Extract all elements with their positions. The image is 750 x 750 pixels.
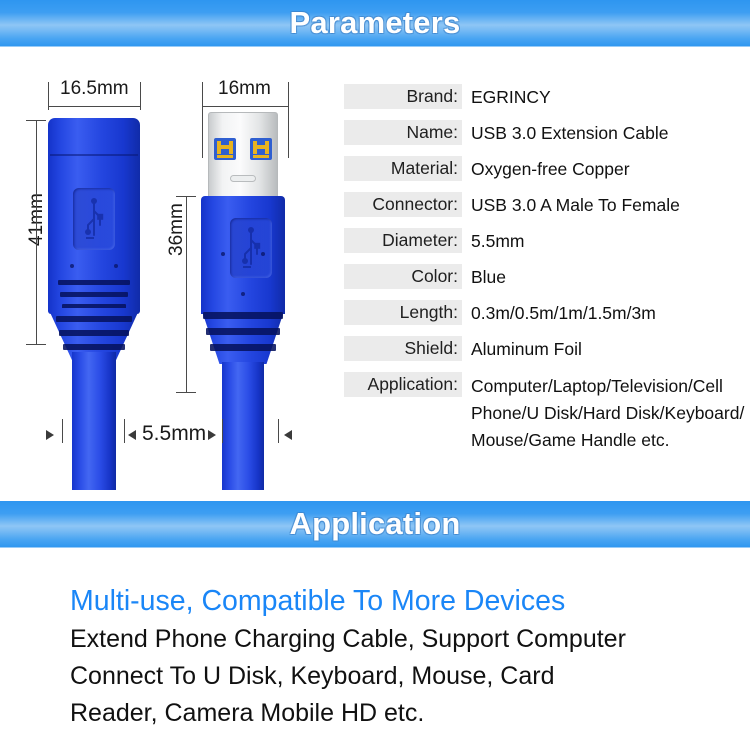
female-groove-2 xyxy=(60,292,128,297)
spec-row-color: Color: Blue xyxy=(344,264,746,289)
female-connector-seam xyxy=(50,154,138,156)
male-relief-ring-3 xyxy=(210,344,276,351)
male-cable-jacket xyxy=(222,362,264,490)
contact-block-left xyxy=(214,138,236,160)
specification-table: Brand: EGRINCY Name: USB 3.0 Extension C… xyxy=(344,84,746,465)
female-usb-connector xyxy=(48,118,140,358)
application-line-2: Connect To U Disk, Keyboard, Mouse, Card xyxy=(70,658,730,695)
spec-label-diameter: Diameter: xyxy=(344,228,462,253)
male-screw-hole-left xyxy=(221,252,225,256)
spec-row-material: Material: Oxygen-free Copper xyxy=(344,156,746,181)
cable-diagram: 16.5mm 41mm 16mm 36mm xyxy=(0,56,340,490)
male-relief-ring-1 xyxy=(203,312,283,319)
female-groove-1 xyxy=(58,280,130,285)
spec-label-connector: Connector: xyxy=(344,192,462,217)
spec-label-color: Color: xyxy=(344,264,462,289)
spec-row-application: Application: Computer/Laptop/Television/… xyxy=(344,372,746,454)
dimension-label-female-width: 16.5mm xyxy=(60,78,129,100)
female-relief-ring-3 xyxy=(63,344,125,350)
application-description: Multi-use, Compatible To More Devices Ex… xyxy=(70,581,730,732)
diameter-arrow-2 xyxy=(128,430,136,440)
parameters-banner-title: Parameters xyxy=(0,0,750,48)
dimension-tick-bottom xyxy=(26,344,46,345)
spec-row-shield: Shield: Aluminum Foil xyxy=(344,336,746,361)
diameter-arrow-3 xyxy=(208,430,216,440)
diameter-tick-1 xyxy=(62,419,63,443)
usb-trident-glyph-male xyxy=(240,226,262,270)
diameter-arrow-1 xyxy=(46,430,54,440)
spec-value-diameter: 5.5mm xyxy=(462,228,524,253)
spec-label-length: Length: xyxy=(344,300,462,325)
dimension-label-male-height: 36mm xyxy=(166,203,188,256)
dimension-line-female-height xyxy=(36,120,37,344)
male-screw-hole-right xyxy=(261,252,265,256)
dimension-tick-right xyxy=(140,82,141,110)
application-banner-title: Application xyxy=(0,501,750,549)
application-headline: Multi-use, Compatible To More Devices xyxy=(70,581,730,621)
diameter-arrow-4 xyxy=(284,430,292,440)
contact-block-right xyxy=(250,138,272,160)
dimension-tick-top xyxy=(26,120,46,121)
female-screw-hole-left xyxy=(70,264,74,268)
male-plug-insert xyxy=(212,138,274,164)
diameter-tick-2 xyxy=(124,419,125,443)
female-relief-ring-1 xyxy=(56,316,132,322)
spec-value-shield: Aluminum Foil xyxy=(462,336,582,361)
dimension-label-cable-diameter: 5.5mm xyxy=(142,422,206,446)
female-cable-jacket xyxy=(72,352,116,490)
dimension-label-male-width: 16mm xyxy=(218,78,271,100)
dimension-line-male-height xyxy=(186,196,187,392)
spec-row-length: Length: 0.3m/0.5m/1m/1.5m/3m xyxy=(344,300,746,325)
dimension-label-female-height: 41mm xyxy=(26,193,48,246)
spec-value-brand: EGRINCY xyxy=(462,84,551,109)
dimension-line-female-width xyxy=(48,106,140,107)
male-connector-housing xyxy=(201,196,285,314)
female-relief-ring-2 xyxy=(59,330,129,336)
spec-value-connector: USB 3.0 A Male To Female xyxy=(462,192,680,217)
male-screw-hole-center xyxy=(241,292,245,296)
usb-superspeed-logo-icon xyxy=(73,188,115,250)
male-plug-slot xyxy=(230,175,256,182)
diameter-tick-3 xyxy=(222,419,223,443)
parameters-banner: Parameters xyxy=(0,0,750,48)
spec-row-connector: Connector: USB 3.0 A Male To Female xyxy=(344,192,746,217)
diameter-tick-4 xyxy=(278,419,279,443)
dimension-tick-left xyxy=(48,82,49,110)
spec-row-name: Name: USB 3.0 Extension Cable xyxy=(344,120,746,145)
dimension-line-male-width xyxy=(202,106,288,107)
application-line-3: Reader, Camera Mobile HD etc. xyxy=(70,695,730,732)
spec-value-material: Oxygen-free Copper xyxy=(462,156,630,181)
usb-superspeed-logo-icon-male xyxy=(230,218,272,278)
spec-label-name: Name: xyxy=(344,120,462,145)
spec-value-length: 0.3m/0.5m/1m/1.5m/3m xyxy=(462,300,656,325)
spec-row-brand: Brand: EGRINCY xyxy=(344,84,746,109)
spec-label-material: Material: xyxy=(344,156,462,181)
spec-value-color: Blue xyxy=(462,264,506,289)
female-screw-hole-right xyxy=(114,264,118,268)
spec-value-name: USB 3.0 Extension Cable xyxy=(462,120,668,145)
usb-trident-glyph xyxy=(83,197,105,241)
spec-label-application: Application: xyxy=(344,372,462,397)
product-spec-page: Parameters 16.5mm 41mm 16mm 36mm xyxy=(0,0,750,750)
male-relief-ring-2 xyxy=(206,328,280,335)
spec-label-brand: Brand: xyxy=(344,84,462,109)
application-line-1: Extend Phone Charging Cable, Support Com… xyxy=(70,621,730,658)
spec-label-shield: Shield: xyxy=(344,336,462,361)
application-banner: Application xyxy=(0,501,750,549)
spec-value-application: Computer/Laptop/Television/Cell Phone/U … xyxy=(462,372,746,454)
spec-row-diameter: Diameter: 5.5mm xyxy=(344,228,746,253)
